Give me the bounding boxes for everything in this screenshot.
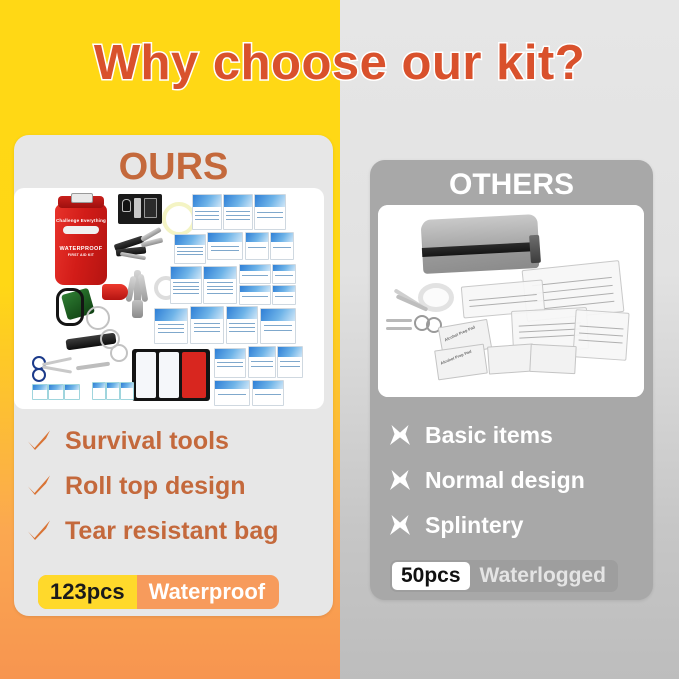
ours-feature-row-2: Roll top design <box>26 471 246 501</box>
pouch-zipper-tab-icon <box>529 235 541 264</box>
folding-knife-icon <box>126 270 152 320</box>
others-feature-label-3: Splintery <box>425 511 523 539</box>
tool-case-icon <box>118 194 162 224</box>
tweezers-icon <box>76 362 110 371</box>
check-icon <box>26 473 52 499</box>
ours-feature-label-3: Tear resistant bag <box>65 516 279 546</box>
bag-clip-icon <box>71 193 93 203</box>
ours-product-photo: Challenge Everything WATERPROOF FIRST AI… <box>14 188 324 409</box>
ring-icon-3 <box>110 344 128 362</box>
bag-firstaid-text: FIRST AID KIT <box>55 253 107 257</box>
bag-waterproof-text: WATERPROOF <box>55 246 107 252</box>
ours-heading: OURS <box>14 135 333 189</box>
alcohol-prep-pad-4 <box>529 344 576 374</box>
alcohol-prep-pad-2: Alcohol Prep Pad <box>434 344 488 381</box>
glow-cord-icon <box>162 202 196 236</box>
others-badge-claim: Waterlogged <box>472 560 618 592</box>
others-feature-label-1: Basic items <box>425 421 553 449</box>
others-badge-count: 50pcs <box>392 562 470 590</box>
others-heading: OTHERS <box>370 160 653 203</box>
others-badge: 50pcs Waterlogged <box>390 560 618 592</box>
wipes-bag-icon <box>572 309 629 361</box>
red-dry-bag-icon <box>55 204 107 285</box>
ours-feature-row-1: Survival tools <box>26 426 229 456</box>
cross-icon <box>388 513 412 537</box>
ours-badge-count: 123pcs <box>38 575 137 609</box>
multitool-plier-icon <box>114 230 166 266</box>
others-feature-row-2: Normal design <box>388 466 585 494</box>
ring-icon-1 <box>86 306 110 330</box>
ours-feature-label-1: Survival tools <box>65 426 229 456</box>
ours-feature-row-3: Tear resistant bag <box>26 516 279 546</box>
others-kit-illustration: Alcohol Prep Pad Alcohol Prep Pad <box>378 205 644 397</box>
alcohol-prep-pad-label: Alcohol Prep Pad <box>443 325 475 343</box>
check-icon <box>26 428 52 454</box>
bag-brand-text: Challenge Everything <box>55 218 107 223</box>
bag-brand-oval-icon <box>63 226 100 234</box>
check-icon <box>26 518 52 544</box>
ours-kit-illustration: Challenge Everything WATERPROOF FIRST AI… <box>14 188 324 409</box>
whistle-icon <box>102 284 128 300</box>
ours-feature-label-2: Roll top design <box>65 471 246 501</box>
others-feature-row-3: Splintery <box>388 511 523 539</box>
others-feature-row-1: Basic items <box>388 421 553 449</box>
cross-icon <box>388 468 412 492</box>
cross-icon <box>388 423 412 447</box>
others-feature-label-2: Normal design <box>425 466 585 494</box>
alcohol-prep-pad-3 <box>487 343 535 374</box>
page-title: Why choose our kit? <box>0 34 679 92</box>
alcohol-prep-pad-label: Alcohol Prep Pad <box>439 349 472 366</box>
ours-badge-claim: Waterproof <box>137 575 280 609</box>
ours-badge: 123pcs Waterproof <box>38 575 279 609</box>
comparison-infographic: Why choose our kit? OURS Challenge Every… <box>0 0 679 679</box>
pouch-organizer-icon <box>132 349 210 401</box>
carabiner-icon <box>56 288 84 326</box>
others-product-photo: Alcohol Prep Pad Alcohol Prep Pad <box>378 205 644 397</box>
